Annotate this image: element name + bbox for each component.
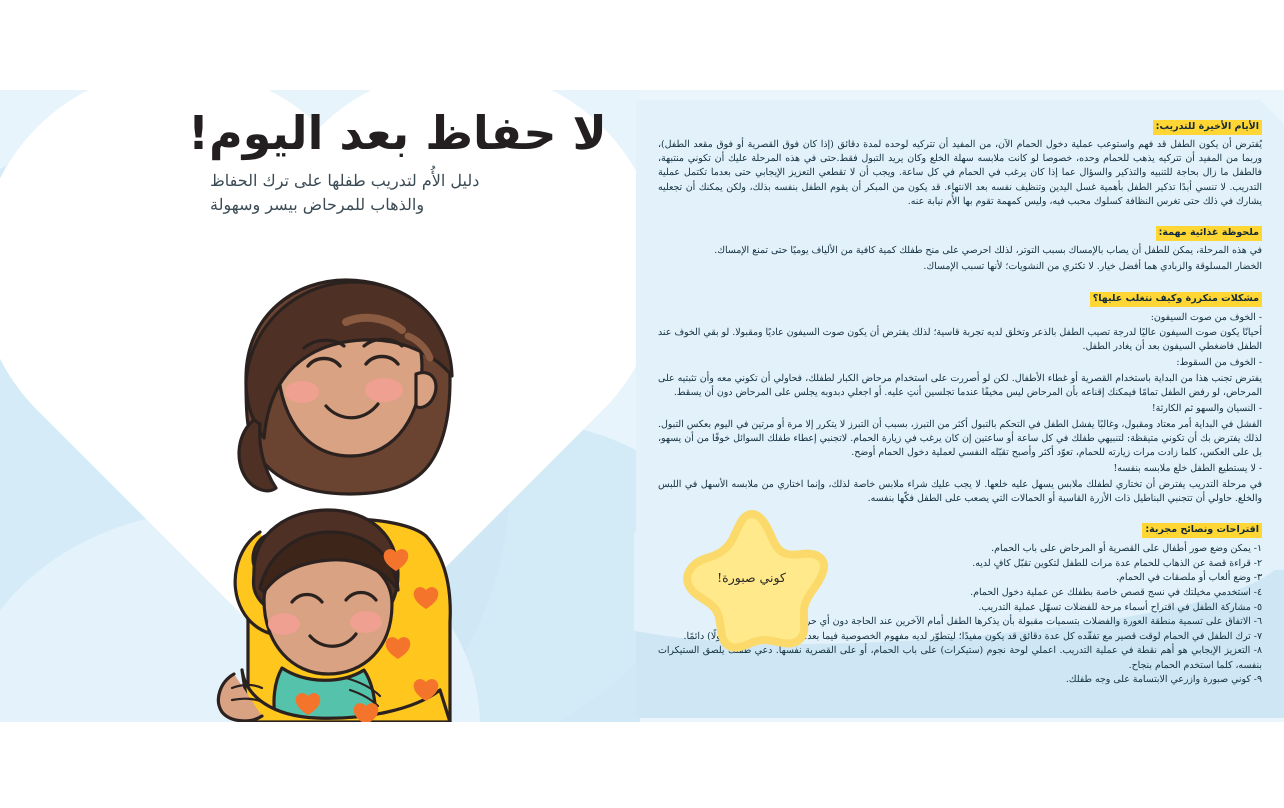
section-heading-common-problems: مشكلات متكررة وكيف نتغلب عليها؟ [1090,292,1262,307]
problem-body: في مرحلة التدريب يفترض أن تختاري لطفلك م… [658,478,1262,507]
section-heading-tips: اقتراحات ونصائح مجربة: [1142,523,1262,538]
section-heading-nutrition: ملحوظة غذائية مهمة: [1156,226,1262,241]
problem-title: - لا يستطيع الطفل خلع ملابسه بنفسه! [658,462,1262,476]
section-paragraph: في هذه المرحلة، يمكن للطفل أن يصاب بالإم… [658,244,1262,258]
content-column: الأيام الأخيرة للتدريب: يُفترض أن يكون ا… [634,90,1284,722]
tip-item: ٩- كوني صبورة وازرعي الابتسامة على وجه ط… [658,673,1262,688]
title-block: لا حفاظ بعد اليوم! دليل الأُم لتدريب طفل… [20,108,620,218]
section-heading-row: ملحوظة غذائية مهمة: [658,220,1262,243]
problem-body: الفشل في البداية أمر معتاد ومقبول، وغالب… [658,418,1262,461]
mother-hugging-child-illustration [150,270,520,722]
problem-title: - الخوف من السقوط: [658,356,1262,370]
problem-body: يفترض تجنب هذا من البداية باستخدام القصر… [658,372,1262,401]
cover-illustration-panel: لا حفاظ بعد اليوم! دليل الأُم لتدريب طفل… [0,90,640,722]
problem-title: - النسيان والسهو ثم الكارثة! [658,402,1262,416]
section-paragraph: الخضار المسلوقة والزبادي هما أفضل خيار. … [658,260,1262,274]
section-heading-row: الأيام الأخيرة للتدريب: [658,114,1262,137]
spacer [658,209,1262,214]
section-paragraph: يُفترض أن يكون الطفل قد فهم واستوعب عملي… [658,138,1262,209]
problem-body: أحيانًا يكون صوت السيفون عاليًا لدرجة تص… [658,326,1262,355]
section-heading-row: مشكلات متكررة وكيف نتغلب عليها؟ [658,286,1262,309]
page-title: لا حفاظ بعد اليوم! [20,108,620,159]
page-subtitle: دليل الأُم لتدريب طفلها على ترك الحفاظوا… [20,169,620,219]
problem-title: - الخوف من صوت السيفون: [658,311,1262,325]
section-heading-last-days: الأيام الأخيرة للتدريب: [1153,120,1262,135]
star-label: كوني صبورة! [669,570,834,585]
page-sheet: لا حفاظ بعد اليوم! دليل الأُم لتدريب طفل… [0,90,1284,722]
star-badge: كوني صبورة! [669,508,834,658]
spacer [658,275,1262,280]
